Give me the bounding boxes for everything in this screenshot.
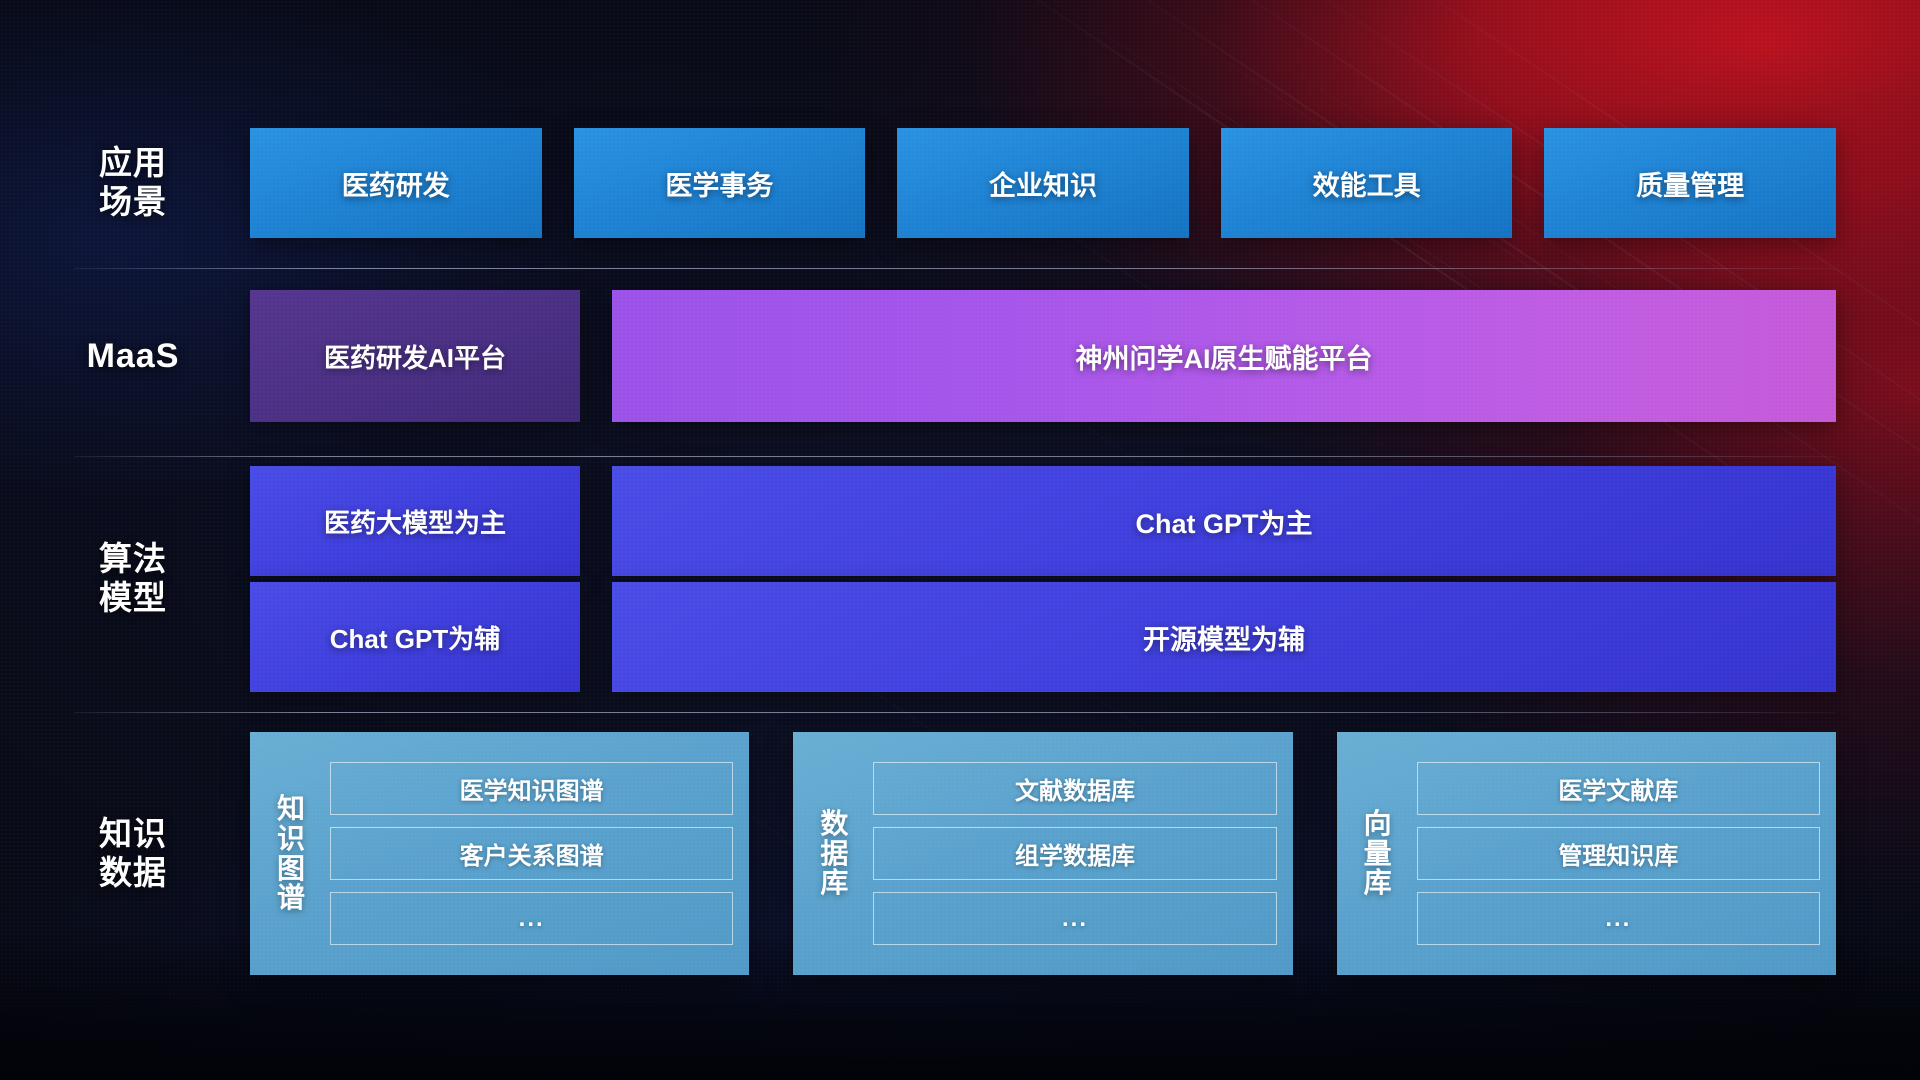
row-label-line: 数据 bbox=[99, 854, 167, 893]
row-label-line: 场景 bbox=[99, 183, 167, 222]
row-label-line: MaaS bbox=[87, 336, 180, 376]
box-label: 开源模型为辅 bbox=[1143, 618, 1305, 657]
knowledge-chip-list: 医学文献库管理知识库... bbox=[1413, 732, 1836, 975]
divider-maas-algorithm bbox=[74, 456, 1836, 457]
box-label: Chat GPT为主 bbox=[1135, 502, 1312, 541]
row-label-line: 知识 bbox=[99, 815, 167, 854]
knowledge-chip[interactable]: ... bbox=[873, 892, 1276, 945]
row-label-application: 应用场景 bbox=[74, 128, 192, 238]
side-label-char: 数 bbox=[820, 809, 848, 839]
divider-application-maas bbox=[74, 268, 1836, 269]
side-label-char: 库 bbox=[1364, 868, 1392, 898]
algorithm-model-box-secondary[interactable]: Chat GPT为主 bbox=[612, 466, 1836, 576]
knowledge-chip[interactable]: 医学知识图谱 bbox=[330, 762, 733, 815]
knowledge-chip[interactable]: 组学数据库 bbox=[873, 827, 1276, 880]
algorithm-model-box-secondary[interactable]: 开源模型为辅 bbox=[612, 582, 1836, 692]
box-label: 效能工具 bbox=[1313, 164, 1421, 203]
side-label-char: 库 bbox=[820, 868, 848, 898]
application-scenario-box[interactable]: 质量管理 bbox=[1544, 128, 1836, 238]
side-label-char: 量 bbox=[1364, 839, 1392, 869]
knowledge-panel: 知识图谱医学知识图谱客户关系图谱... bbox=[250, 732, 749, 975]
knowledge-panel: 向量库医学文献库管理知识库... bbox=[1337, 732, 1836, 975]
box-label: 神州问学AI原生赋能平台 bbox=[1076, 337, 1373, 376]
box-label: 医药研发AI平台 bbox=[324, 338, 506, 375]
maas-enablement-platform-box[interactable]: 神州问学AI原生赋能平台 bbox=[612, 290, 1836, 422]
knowledge-chip-list: 文献数据库组学数据库... bbox=[869, 732, 1292, 975]
row-label-algorithm: 算法模型 bbox=[74, 466, 192, 692]
diagram-layers: 应用场景医药研发医学事务企业知识效能工具质量管理MaaS医药研发AI平台神州问学… bbox=[0, 0, 1920, 1080]
knowledge-chip[interactable]: 客户关系图谱 bbox=[330, 827, 733, 880]
application-scenario-box[interactable]: 医学事务 bbox=[574, 128, 866, 238]
box-label: 医药研发 bbox=[342, 164, 450, 203]
knowledge-chip[interactable]: 管理知识库 bbox=[1417, 827, 1820, 880]
row-label-maas: MaaS bbox=[74, 290, 192, 422]
algorithm-model-box-primary[interactable]: Chat GPT为辅 bbox=[250, 582, 580, 692]
knowledge-chip[interactable]: ... bbox=[1417, 892, 1820, 945]
knowledge-panel-side-label: 数据库 bbox=[799, 732, 869, 975]
divider-algorithm-knowledge bbox=[74, 712, 1836, 713]
box-label: 企业知识 bbox=[989, 164, 1097, 203]
knowledge-panel-side-label: 向量库 bbox=[1343, 732, 1413, 975]
architecture-diagram: 应用场景医药研发医学事务企业知识效能工具质量管理MaaS医药研发AI平台神州问学… bbox=[0, 0, 1920, 1080]
knowledge-chip[interactable]: 文献数据库 bbox=[873, 762, 1276, 815]
side-label-char: 识 bbox=[277, 824, 305, 854]
row-label-knowledge: 知识数据 bbox=[74, 732, 192, 975]
application-scenario-box[interactable]: 医药研发 bbox=[250, 128, 542, 238]
box-label: 质量管理 bbox=[1636, 164, 1744, 203]
side-label-char: 知 bbox=[277, 794, 305, 824]
knowledge-panel-side-label: 知识图谱 bbox=[256, 732, 326, 975]
maas-platform-box[interactable]: 医药研发AI平台 bbox=[250, 290, 580, 422]
knowledge-chip-list: 医学知识图谱客户关系图谱... bbox=[326, 732, 749, 975]
algorithm-model-box-primary[interactable]: 医药大模型为主 bbox=[250, 466, 580, 576]
knowledge-chip[interactable]: ... bbox=[330, 892, 733, 945]
side-label-char: 图 bbox=[277, 854, 305, 884]
box-label: 医学事务 bbox=[665, 164, 773, 203]
box-label: Chat GPT为辅 bbox=[330, 619, 500, 656]
knowledge-chip[interactable]: 医学文献库 bbox=[1417, 762, 1820, 815]
row-label-line: 模型 bbox=[99, 579, 167, 618]
application-scenario-box[interactable]: 效能工具 bbox=[1221, 128, 1513, 238]
side-label-char: 谱 bbox=[277, 883, 305, 913]
knowledge-panel: 数据库文献数据库组学数据库... bbox=[793, 732, 1292, 975]
application-scenario-box[interactable]: 企业知识 bbox=[897, 128, 1189, 238]
side-label-char: 据 bbox=[820, 839, 848, 869]
row-label-line: 算法 bbox=[99, 540, 167, 579]
box-label: 医药大模型为主 bbox=[324, 503, 506, 540]
row-label-line: 应用 bbox=[99, 144, 167, 183]
side-label-char: 向 bbox=[1364, 809, 1392, 839]
